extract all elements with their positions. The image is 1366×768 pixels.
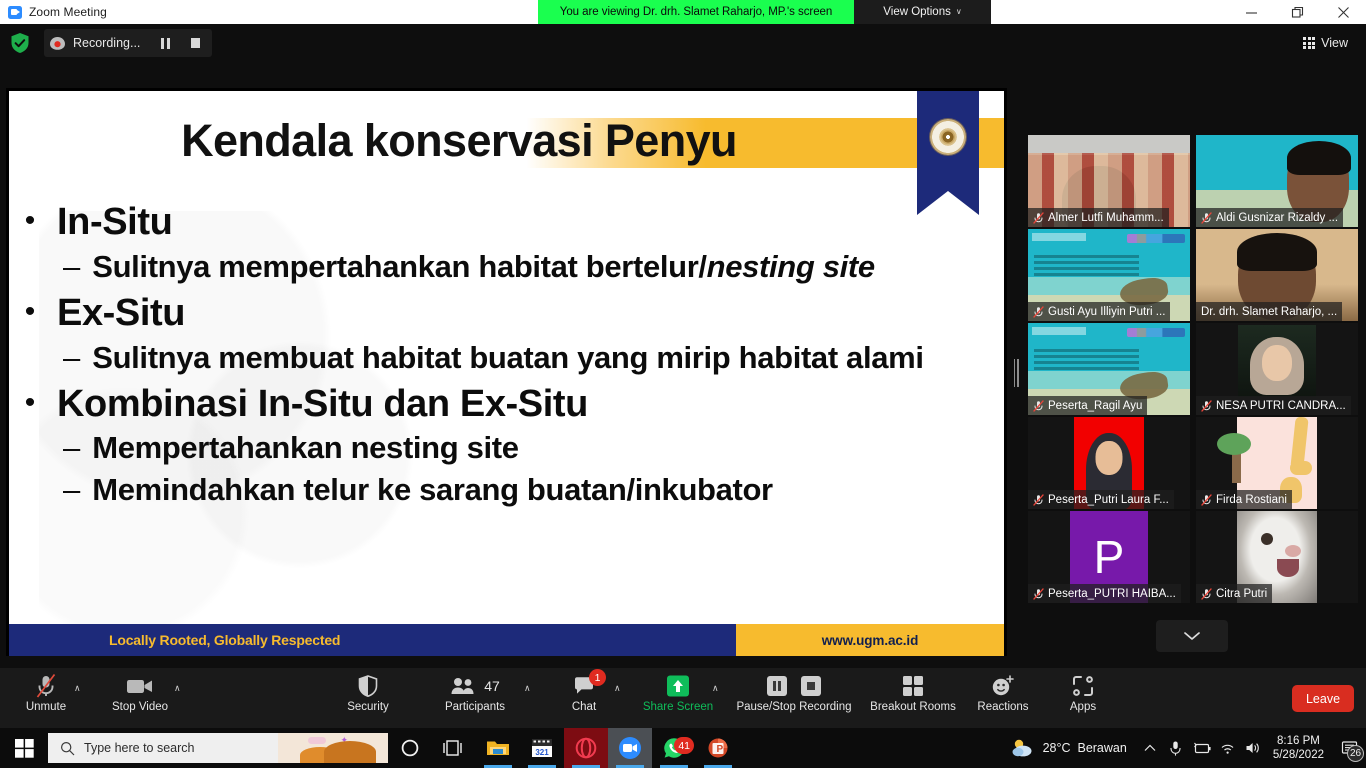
share-screen-label: Share Screen	[643, 701, 713, 713]
participant-name-label: NESA PUTRI CANDRA...	[1196, 396, 1351, 415]
bullet-level2-label: Sulitnya membuat habitat buatan yang mir…	[92, 338, 923, 377]
dash-icon: –	[63, 338, 80, 378]
ugm-ribbon-logo-icon	[917, 91, 979, 213]
filmstrip-drag-handle[interactable]	[1012, 358, 1020, 388]
mic-muted-icon	[1201, 212, 1212, 224]
participant-thumbnail[interactable]: Aldi Gusnizar Rizaldy ...	[1196, 135, 1358, 227]
stop-video-button[interactable]: Stop Video	[110, 672, 170, 724]
search-input[interactable]: Type here to search ✦	[48, 733, 388, 763]
bullet-level2-label: Sulitnya mempertahankan habitat bertelur…	[92, 247, 874, 286]
thumbnail-row: Almer Lutfi Muhamm... Aldi Gusnizar Riza…	[1028, 135, 1358, 227]
participant-thumbnail[interactable]: NESA PUTRI CANDRA...	[1196, 323, 1358, 415]
participant-thumbnail[interactable]: Peserta_Putri Laura F...	[1028, 417, 1190, 509]
taskbar-clock[interactable]: 8:16 PM 5/28/2022	[1273, 734, 1324, 762]
thumbnail-row: Gusti Ayu Illiyin Putri ... Dr. drh. Sla…	[1028, 229, 1358, 321]
breakout-rooms-label: Breakout Rooms	[870, 701, 956, 713]
share-arrow-up-icon	[666, 672, 690, 700]
chat-button[interactable]: 1 Chat	[562, 672, 606, 724]
microphone-icon[interactable]	[1163, 728, 1189, 768]
opera-icon[interactable]	[564, 728, 608, 768]
bullet-level2: – Memindahkan telur ke sarang buatan/ink…	[63, 470, 1002, 510]
footer-tagline: Locally Rooted, Globally Respected	[109, 632, 340, 648]
bullet-level1: • Ex-Situ	[17, 291, 1002, 336]
pause-stop-recording-label: Pause/Stop Recording	[736, 701, 851, 713]
mic-muted-icon	[1033, 494, 1044, 506]
view-label: View	[1321, 36, 1348, 50]
bullet-level1: • In-Situ	[17, 200, 1002, 245]
reactions-label: Reactions	[977, 701, 1028, 713]
camera-icon	[125, 672, 155, 700]
weather-widget[interactable]: 28°C Berawan	[1010, 737, 1127, 759]
participant-thumbnail[interactable]: Peserta_Ragil Ayu	[1028, 323, 1190, 415]
record-dot-icon	[48, 34, 67, 53]
slide-title: Kendala konservasi Penyu	[9, 115, 909, 167]
participants-label: Participants	[445, 701, 505, 713]
recording-label: Recording...	[71, 36, 148, 50]
security-shield-icon[interactable]	[10, 32, 30, 54]
thumbnail-row: Peserta_Putri Laura F... Firda Rostiani	[1028, 417, 1358, 509]
mic-muted-icon	[1201, 400, 1212, 412]
mic-muted-icon	[1033, 306, 1044, 318]
battery-icon[interactable]	[1189, 728, 1215, 768]
participant-thumbnail-active-speaker[interactable]: Dr. drh. Slamet Raharjo, ...	[1196, 229, 1358, 321]
mic-muted-icon	[1201, 494, 1212, 506]
grid-squares-icon	[901, 672, 925, 700]
whatsapp-icon[interactable]: 41	[652, 728, 696, 768]
recording-status-bar: Recording...	[0, 24, 1366, 62]
clock-time: 8:16 PM	[1273, 734, 1324, 748]
powerpoint-icon[interactable]: P	[696, 728, 740, 768]
partly-cloudy-icon	[1010, 737, 1036, 759]
people-icon: 47	[450, 672, 500, 700]
audio-options-caret[interactable]: ∧	[74, 684, 81, 693]
windows-start-icon[interactable]	[0, 728, 48, 768]
participant-name-label: Citra Putri	[1196, 584, 1272, 603]
minimize-button[interactable]	[1228, 0, 1274, 24]
bullet-dot-icon: •	[17, 291, 43, 333]
leave-meeting-button[interactable]: Leave	[1292, 685, 1354, 712]
stop-recording-button[interactable]	[182, 30, 208, 56]
avatar-letter: P	[1094, 534, 1125, 580]
participant-name-label: Gusti Ayu Illiyin Putri ...	[1028, 302, 1170, 321]
breakout-rooms-button[interactable]: Breakout Rooms	[866, 672, 960, 724]
notification-count: 26	[1347, 745, 1364, 762]
reactions-button[interactable]: Reactions	[968, 672, 1038, 724]
ugm-seal-icon	[930, 119, 966, 155]
search-decoration-art: ✦	[278, 733, 388, 763]
task-view-icon[interactable]	[432, 728, 476, 768]
search-placeholder: Type here to search	[84, 741, 194, 755]
viewing-screen-banner: You are viewing Dr. drh. Slamet Raharjo,…	[538, 0, 854, 24]
participant-name-label: Peserta_Ragil Ayu	[1028, 396, 1147, 415]
participant-name-label: Firda Rostiani	[1196, 490, 1292, 509]
title-bar-left: Zoom Meeting	[0, 5, 107, 19]
apps-button[interactable]: Apps	[1058, 672, 1108, 724]
pause-stop-recording-button[interactable]: Pause/Stop Recording	[734, 672, 854, 724]
close-button[interactable]	[1320, 0, 1366, 24]
volume-icon[interactable]	[1241, 728, 1267, 768]
mic-muted-icon	[1033, 212, 1044, 224]
whatsapp-unread-badge: 41	[674, 737, 694, 754]
chevron-down-icon	[1182, 630, 1202, 642]
app-title: Zoom Meeting	[29, 5, 107, 19]
slide-footer: Locally Rooted, Globally Respected www.u…	[9, 624, 1004, 656]
file-explorer-icon[interactable]	[476, 728, 520, 768]
window-controls	[1228, 0, 1366, 24]
bullet-level2-label: Mempertahankan nesting site	[92, 428, 518, 467]
recording-indicator: Recording...	[44, 29, 212, 57]
participant-name-label: Aldi Gusnizar Rizaldy ...	[1196, 208, 1343, 227]
unmute-button[interactable]: Unmute	[22, 672, 70, 724]
chat-options-caret[interactable]: ∧	[614, 684, 621, 693]
bullet-level1-label: Ex-Situ	[57, 291, 185, 336]
pause-stop-recording-icon	[766, 672, 822, 700]
stop-video-label: Stop Video	[112, 701, 168, 713]
search-icon	[60, 741, 75, 756]
bullet-level2-label: Memindahkan telur ke sarang buatan/inkub…	[92, 470, 773, 509]
view-options-label: View Options	[883, 6, 951, 18]
weather-text: 28°C Berawan	[1043, 741, 1127, 755]
clock-date: 5/28/2022	[1273, 748, 1324, 762]
dash-icon: –	[63, 470, 80, 510]
chevron-down-icon: ∨	[956, 8, 962, 16]
security-label: Security	[347, 701, 389, 713]
participant-name-label: Peserta_PUTRI HAIBA...	[1028, 584, 1181, 603]
mic-muted-icon	[1201, 588, 1212, 600]
participant-thumbnail[interactable]: Firda Rostiani	[1196, 417, 1358, 509]
participants-button[interactable]: 47 Participants	[440, 672, 510, 724]
microphone-muted-icon	[35, 672, 57, 700]
video-options-caret[interactable]: ∧	[174, 684, 181, 693]
filmstrip-collapse-button[interactable]	[1156, 620, 1228, 652]
thumbnail-row: Peserta_Ragil Ayu NESA PUTRI CANDRA...	[1028, 323, 1358, 415]
mic-muted-icon	[1033, 588, 1044, 600]
bullet-level2: – Sulitnya mempertahankan habitat bertel…	[63, 247, 1002, 287]
slide-bullet-list: • In-Situ – Sulitnya mempertahankan habi…	[17, 196, 1002, 512]
apps-bracket-icon	[1071, 672, 1095, 700]
participant-thumbnail[interactable]: Citra Putri	[1196, 511, 1358, 603]
chat-bubble-icon: 1	[573, 672, 595, 700]
wifi-icon[interactable]	[1215, 728, 1241, 768]
bullet-level2: – Mempertahankan nesting site	[63, 428, 1002, 468]
share-options-caret[interactable]: ∧	[712, 684, 719, 693]
participant-name-label: Almer Lutfi Muhamm...	[1028, 208, 1169, 227]
bullet-level1-label: Kombinasi In-Situ dan Ex-Situ	[57, 382, 588, 427]
zoom-logo-icon	[8, 6, 22, 19]
participant-thumbnail[interactable]: Almer Lutfi Muhamm...	[1028, 135, 1190, 227]
participants-options-caret[interactable]: ∧	[524, 684, 531, 693]
bullet-dot-icon: •	[17, 200, 43, 242]
shield-icon	[357, 672, 379, 700]
bullet-level2: – Sulitnya membuat habitat buatan yang m…	[63, 338, 1002, 378]
restore-button[interactable]	[1274, 0, 1320, 24]
apps-label: Apps	[1070, 701, 1096, 713]
media-player-classic-icon[interactable]: 321	[520, 728, 564, 768]
pause-recording-button[interactable]	[152, 30, 178, 56]
participant-thumbnail[interactable]: P Peserta_PUTRI HAIBA...	[1028, 511, 1190, 603]
bullet-level1: • Kombinasi In-Situ dan Ex-Situ	[17, 382, 1002, 427]
notification-icon[interactable]: 26	[1332, 728, 1366, 768]
bullet-dot-icon: •	[17, 382, 43, 424]
dash-icon: –	[63, 428, 80, 468]
participant-thumbnail[interactable]: Gusti Ayu Illiyin Putri ...	[1028, 229, 1190, 321]
footer-url: www.ugm.ac.id	[822, 633, 918, 648]
dash-icon: –	[63, 247, 80, 287]
svg-text:P: P	[717, 744, 724, 755]
thumbnail-row: P Peserta_PUTRI HAIBA... Citra Putri	[1028, 511, 1358, 603]
participant-name-label: Peserta_Putri Laura F...	[1028, 490, 1174, 509]
security-button[interactable]: Security	[338, 672, 398, 724]
svg-text:321: 321	[535, 748, 549, 757]
grid-view-icon	[1303, 37, 1315, 49]
system-tray: 28°C Berawan	[1010, 728, 1366, 768]
view-layout-button[interactable]: View	[1295, 30, 1356, 56]
show-hidden-icons-chevron[interactable]	[1137, 728, 1163, 768]
share-screen-button[interactable]: Share Screen	[648, 672, 708, 724]
cortana-icon[interactable]	[388, 728, 432, 768]
stop-icon	[800, 675, 822, 697]
pause-icon	[766, 675, 788, 697]
participant-filmstrip: Almer Lutfi Muhamm... Aldi Gusnizar Riza…	[1028, 135, 1358, 605]
participants-count: 47	[484, 678, 500, 694]
presentation-slide: Kendala konservasi Penyu • In-Situ – Sul…	[9, 91, 1004, 656]
view-options-button[interactable]: View Options ∨	[854, 0, 991, 24]
zoom-meeting-toolbar: Unmute ∧ Stop Video ∧ Security	[0, 668, 1366, 728]
mic-muted-icon	[1033, 400, 1044, 412]
zoom-icon[interactable]	[608, 728, 652, 768]
chat-unread-badge: 1	[589, 669, 606, 686]
windows-taskbar: Type here to search ✦ 321	[0, 728, 1366, 768]
bullet-level1-label: In-Situ	[57, 200, 172, 245]
slide-footer-left: Locally Rooted, Globally Respected	[9, 624, 736, 656]
slide-footer-right: www.ugm.ac.id	[736, 624, 1004, 656]
unmute-label: Unmute	[26, 701, 66, 713]
shared-screen-area[interactable]: Kendala konservasi Penyu • In-Situ – Sul…	[6, 88, 1007, 656]
smiley-plus-icon	[990, 672, 1016, 700]
participant-name-label: Dr. drh. Slamet Raharjo, ...	[1196, 302, 1342, 321]
chat-label: Chat	[572, 701, 596, 713]
